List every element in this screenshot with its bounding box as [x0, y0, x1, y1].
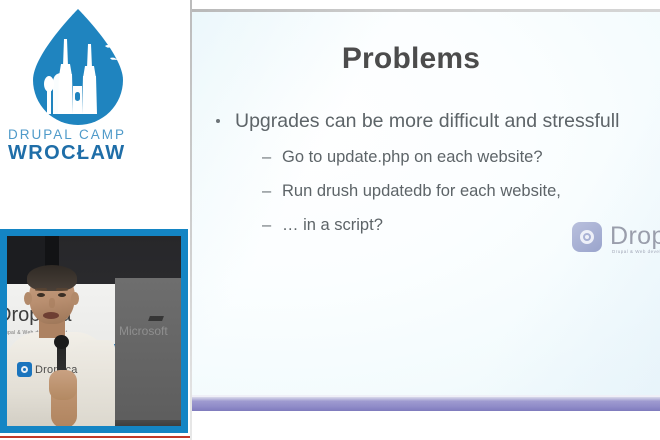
droptica-logo-icon	[572, 222, 602, 252]
speaker-brow-right	[56, 288, 68, 291]
screen-recording-frame: DRUPAL CAMP WROCŁAW Microsoft Droptica D…	[0, 0, 660, 440]
background-banner-microsoft: Microsoft	[115, 278, 181, 426]
webcam-video[interactable]: Microsoft Droptica Drupal & Web developm…	[7, 236, 181, 426]
event-logo-block: DRUPAL CAMP WROCŁAW	[0, 0, 190, 228]
event-logo-text: DRUPAL CAMP WROCŁAW	[8, 127, 158, 164]
bullet-item-sub-2: Run drush updatedb for each website,	[210, 180, 660, 202]
speaker-hand	[49, 370, 77, 400]
slide-bottom-band	[192, 397, 660, 411]
microphone-head-icon	[54, 335, 69, 349]
slide-footer-logo: Drop Drupal & Web development	[572, 218, 660, 262]
background-banner-2-label: Microsoft	[119, 324, 168, 338]
screen-top-margin	[192, 0, 660, 9]
speaker-brow-left	[35, 288, 47, 291]
speaker-ear-left	[24, 292, 32, 305]
speaker-hair	[27, 265, 77, 291]
bullet-item-sub-1: Go to update.php on each website?	[210, 146, 660, 168]
speaker-eye-left	[37, 293, 45, 297]
speaker-ear-right	[71, 292, 79, 305]
speaker-mouth	[43, 312, 59, 319]
left-sidebar: DRUPAL CAMP WROCŁAW Microsoft Droptica D…	[0, 0, 190, 440]
event-logo-line1: DRUPAL CAMP	[8, 127, 158, 142]
drupal-droplet-cathedral-logo-icon	[17, 6, 139, 126]
speaker-nose	[49, 298, 55, 308]
presentation-slide[interactable]: Problems Upgrades can be more difficult …	[192, 12, 660, 398]
slide-title: Problems	[192, 42, 630, 76]
event-logo-line2: WROCŁAW	[8, 142, 158, 164]
banner-mark	[148, 316, 164, 321]
bullet-item-primary: Upgrades can be more difficult and stres…	[210, 108, 660, 134]
slide-bullet-list: Upgrades can be more difficult and stres…	[210, 108, 660, 236]
speaker-webcam-panel[interactable]: Microsoft Droptica Drupal & Web developm…	[0, 229, 188, 433]
droptica-logo-tagline: Drupal & Web development	[612, 249, 660, 254]
speaker-eye-right	[58, 293, 66, 297]
shirt-logo-icon	[17, 362, 32, 377]
screen-bottom-margin	[192, 411, 660, 440]
droptica-logo-word: Drop	[610, 222, 660, 251]
projection-screen-area: Problems Upgrades can be more difficult …	[190, 0, 660, 440]
bottom-red-divider	[0, 436, 190, 438]
